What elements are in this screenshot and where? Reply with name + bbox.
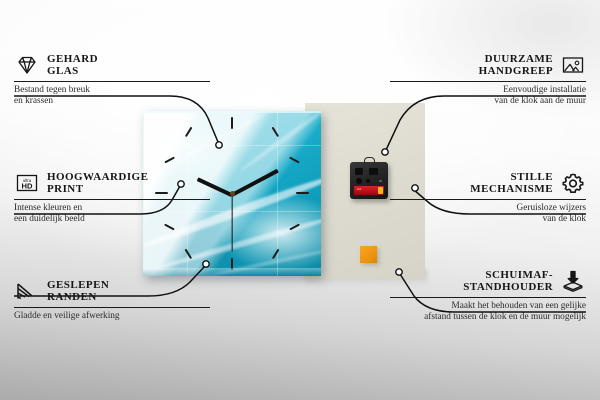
battery-label: AA bbox=[357, 187, 361, 191]
ultra-hd-icon: ultra HD bbox=[14, 170, 40, 196]
feature-title-line1: STILLE bbox=[511, 171, 553, 183]
feature-title-line2: STANDHOUDER bbox=[463, 281, 553, 293]
gear-icon bbox=[560, 170, 586, 196]
feature-duurzame-handgreep[interactable]: DUURZAME HANDGREEP Eenvoudige installati… bbox=[390, 52, 586, 107]
feature-subtitle: Intense kleuren en een duidelijk beeld bbox=[14, 203, 210, 225]
feature-header: GEHARD GLAS bbox=[14, 52, 210, 78]
feature-subtitle-line1: Eenvoudige installatie bbox=[503, 85, 586, 95]
feature-header: SCHUIMAF- STANDHOUDER bbox=[390, 268, 586, 294]
feature-title-line2: MECHANISME bbox=[470, 183, 553, 195]
battery-terminal bbox=[378, 187, 383, 194]
feature-subtitle-line1: Gladde en veilige afwerking bbox=[14, 311, 120, 321]
battery: AA bbox=[354, 186, 384, 195]
feature-schuimafstandhouder[interactable]: SCHUIMAF- STANDHOUDER Maakt het behouden… bbox=[390, 268, 586, 323]
feature-subtitle-line2: van de klok aan de muur bbox=[494, 96, 586, 106]
movement-recess bbox=[355, 168, 363, 175]
svg-text:HD: HD bbox=[22, 182, 33, 191]
feature-divider bbox=[390, 81, 586, 82]
feature-subtitle: Geruisloze wijzers van de klok bbox=[390, 203, 586, 225]
infographic-canvas: AA bbox=[0, 0, 600, 400]
feature-title-line1: GESLEPEN bbox=[47, 279, 109, 291]
feature-subtitle-line1: Geruisloze wijzers bbox=[517, 203, 586, 213]
picture-frame-icon bbox=[560, 52, 586, 78]
feature-subtitle-line2: en krassen bbox=[14, 96, 53, 106]
feature-header: ultra HD HOOGWAARDIGE PRINT bbox=[14, 170, 210, 196]
feature-title-line1: DUURZAME bbox=[485, 53, 553, 65]
clock-hub bbox=[230, 191, 235, 196]
feature-title: STILLE MECHANISME bbox=[470, 171, 553, 196]
feature-subtitle-line1: Bestand tegen breuk bbox=[14, 85, 90, 95]
feature-subtitle: Bestand tegen breuk en krassen bbox=[14, 85, 210, 107]
feature-title-line1: HOOGWAARDIGE bbox=[47, 171, 148, 183]
feature-divider bbox=[14, 307, 210, 308]
foam-spacer bbox=[360, 246, 377, 263]
diamond-icon bbox=[14, 52, 40, 78]
feature-subtitle: Maakt het behouden van een gelijke afsta… bbox=[390, 301, 586, 323]
feature-divider bbox=[14, 81, 210, 82]
feature-title: GEHARD GLAS bbox=[47, 53, 98, 78]
feature-stille-mechanisme[interactable]: STILLE MECHANISME Geruisloze wijzers van… bbox=[390, 170, 586, 225]
movement-contact bbox=[379, 180, 382, 182]
feature-title: DUURZAME HANDGREEP bbox=[479, 53, 553, 78]
feature-divider bbox=[390, 199, 586, 200]
feature-title-line1: GEHARD bbox=[47, 53, 98, 65]
feature-header: DUURZAME HANDGREEP bbox=[390, 52, 586, 78]
feature-title-line1: SCHUIMAF- bbox=[485, 269, 553, 281]
feature-subtitle-line1: Intense kleuren en bbox=[14, 203, 82, 213]
feature-title-line2: HANDGREEP bbox=[479, 65, 553, 77]
feature-title-line2: PRINT bbox=[47, 183, 83, 195]
feature-subtitle-line1: Maakt het behouden van een gelijke bbox=[452, 301, 587, 311]
feature-subtitle: Eenvoudige installatie van de klok aan d… bbox=[390, 85, 586, 107]
feature-divider bbox=[14, 199, 210, 200]
feature-title: SCHUIMAF- STANDHOUDER bbox=[463, 269, 553, 294]
tick-6 bbox=[231, 258, 233, 270]
feature-header: STILLE MECHANISME bbox=[390, 170, 586, 196]
movement-screw bbox=[366, 179, 370, 183]
print-grid-line bbox=[143, 145, 321, 146]
tick-3 bbox=[296, 192, 309, 194]
feature-divider bbox=[390, 297, 586, 298]
movement-recess bbox=[369, 168, 378, 175]
feature-geslepen-randen[interactable]: GESLEPEN RANDEN Gladde en veilige afwerk… bbox=[14, 278, 210, 322]
feature-title-line2: RANDEN bbox=[47, 291, 97, 303]
feature-gehard-glas[interactable]: GEHARD GLAS Bestand tegen breuk en krass… bbox=[14, 52, 210, 107]
movement-screw bbox=[356, 178, 362, 184]
second-hand bbox=[231, 194, 232, 252]
feature-title: HOOGWAARDIGE PRINT bbox=[47, 171, 148, 196]
beveled-edges-icon bbox=[14, 278, 40, 304]
clock-movement: AA bbox=[350, 162, 388, 199]
foam-spacer-icon bbox=[560, 268, 586, 294]
feature-title-line2: GLAS bbox=[47, 65, 79, 77]
feature-title: GESLEPEN RANDEN bbox=[47, 279, 109, 304]
tick-12 bbox=[231, 117, 233, 129]
feature-subtitle-line2: afstand tussen de klok en de muur mogeli… bbox=[424, 312, 586, 322]
feature-subtitle-line2: van de klok bbox=[543, 214, 586, 224]
feature-hoogwaardige-print[interactable]: ultra HD HOOGWAARDIGE PRINT Intense kleu… bbox=[14, 170, 210, 225]
feature-subtitle: Gladde en veilige afwerking bbox=[14, 311, 210, 322]
feature-subtitle-line2: een duidelijk beeld bbox=[14, 214, 85, 224]
movement-shaft bbox=[364, 157, 375, 165]
feature-header: GESLEPEN RANDEN bbox=[14, 278, 210, 304]
